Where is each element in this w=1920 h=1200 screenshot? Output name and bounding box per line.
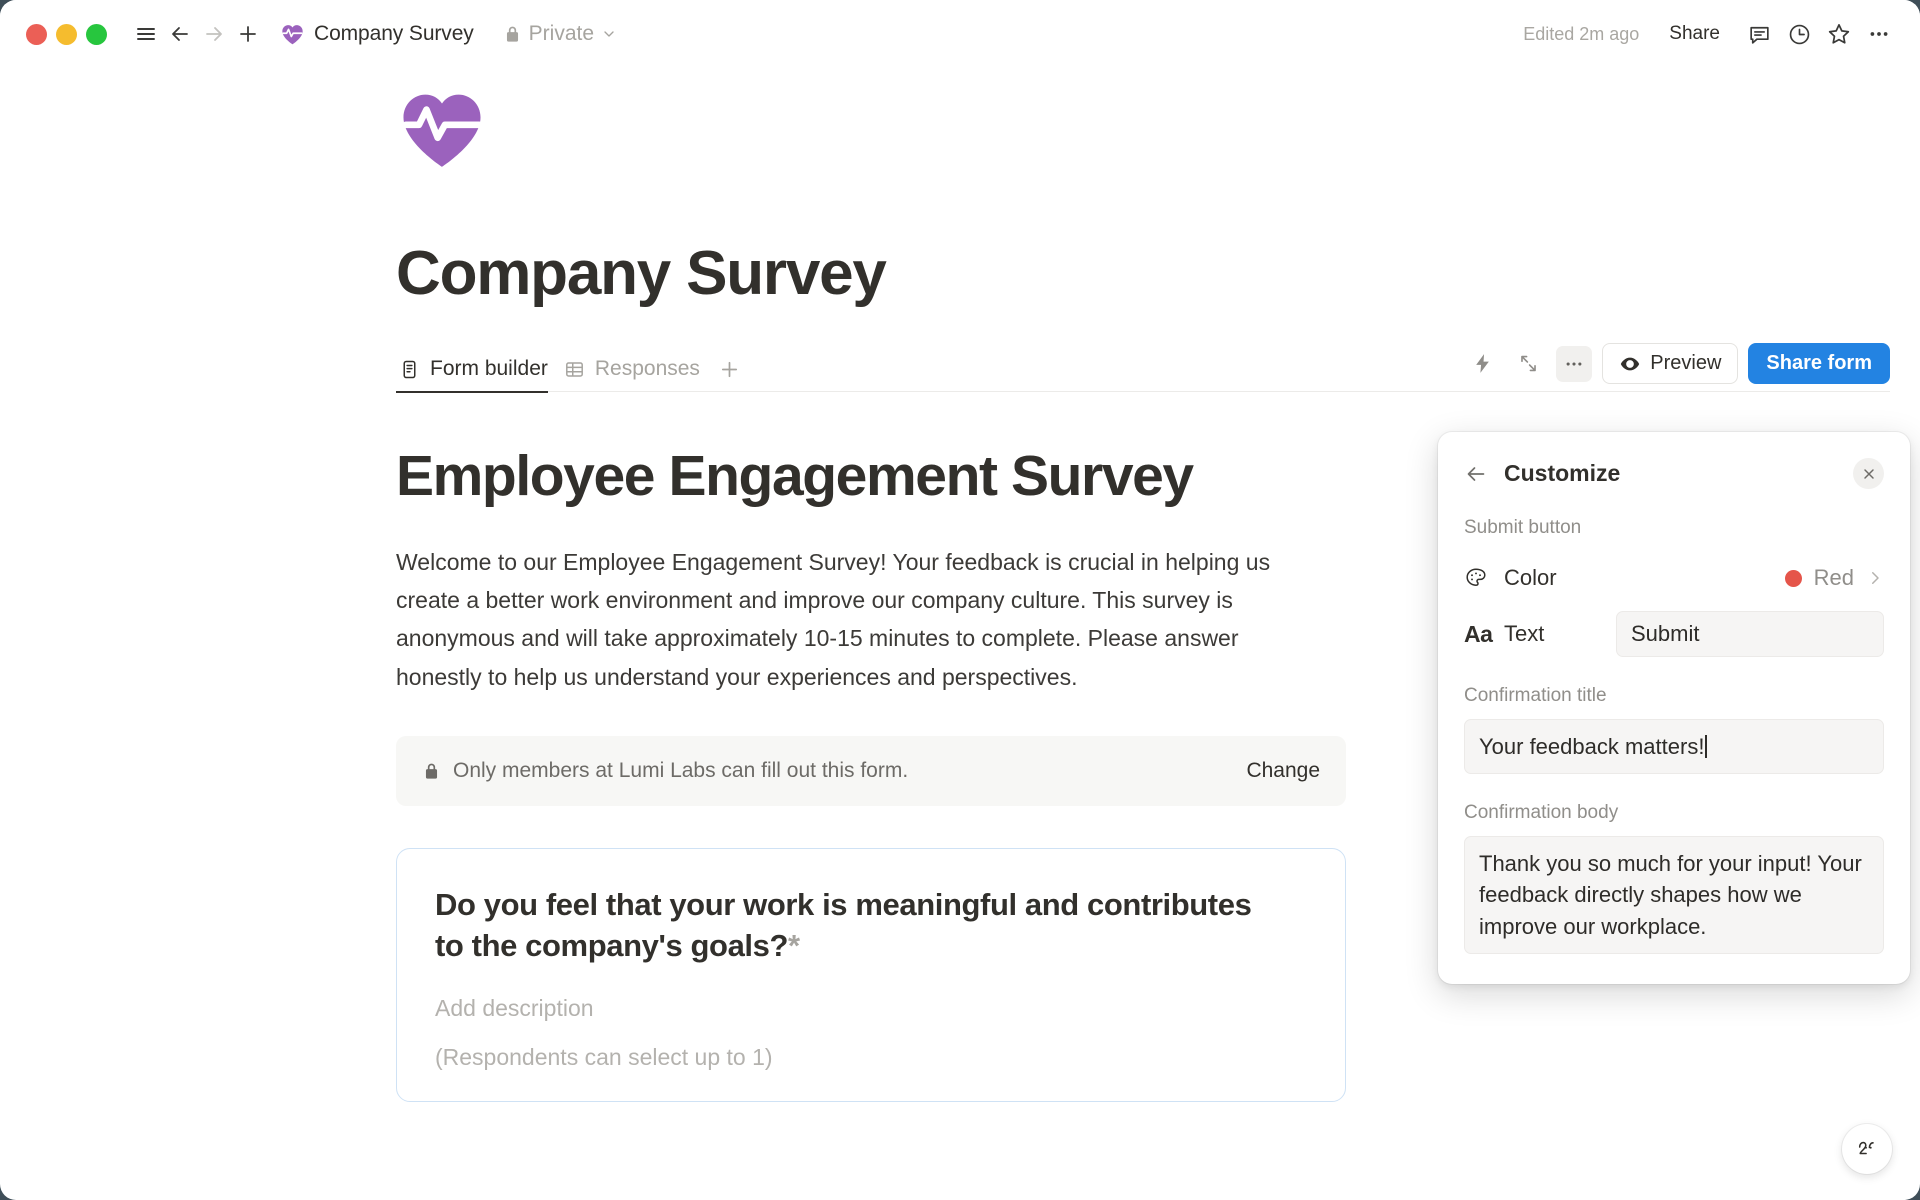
confirmation-title-input[interactable]: Your feedback matters!	[1464, 719, 1884, 774]
app-window: Company Survey Private Edited 2m ago Sha…	[0, 0, 1920, 1200]
question-card[interactable]: Do you feel that your work is meaningful…	[396, 848, 1346, 1102]
breadcrumb[interactable]: Company Survey	[273, 18, 481, 51]
customize-panel: Customize Submit button	[1438, 432, 1910, 984]
more-icon[interactable]	[1862, 17, 1896, 51]
privacy-label: Private	[529, 22, 594, 46]
form-icon	[399, 359, 420, 380]
question-description-input[interactable]: Add description	[435, 995, 1307, 1022]
titlebar-actions: Edited 2m ago Share	[1523, 17, 1896, 51]
aa-icon: Aa	[1464, 621, 1498, 648]
submit-text-input[interactable]: Submit	[1616, 611, 1884, 657]
palette-icon	[1464, 566, 1498, 590]
back-arrow-icon[interactable]	[1464, 462, 1488, 486]
submit-color-value: Red	[1814, 565, 1854, 591]
customize-panel-title: Customize	[1504, 460, 1620, 487]
lightning-icon[interactable]	[1464, 346, 1500, 382]
permission-banner: Only members at Lumi Labs can fill out t…	[396, 736, 1346, 806]
edited-timestamp: Edited 2m ago	[1523, 24, 1639, 45]
question-selection-hint: (Respondents can select up to 1)	[435, 1044, 1307, 1071]
preview-button[interactable]: Preview	[1602, 343, 1738, 384]
customize-panel-header: Customize	[1464, 458, 1884, 489]
question-title: Do you feel that your work is meaningful…	[435, 887, 1251, 963]
submit-color-row[interactable]: Color Red	[1464, 555, 1884, 601]
tab-form-builder-label: Form builder	[430, 357, 548, 381]
eye-icon	[1619, 353, 1641, 375]
form-description[interactable]: Welcome to our Employee Engagement Surve…	[396, 543, 1311, 697]
lock-icon	[422, 762, 441, 781]
title-bar: Company Survey Private Edited 2m ago Sha…	[0, 0, 1920, 68]
back-arrow-icon[interactable]	[163, 17, 197, 51]
star-icon[interactable]	[1822, 17, 1856, 51]
page-icon[interactable]	[396, 84, 488, 176]
expand-icon[interactable]	[1510, 346, 1546, 382]
submit-color-label: Color	[1504, 565, 1557, 591]
permission-change-button[interactable]: Change	[1246, 759, 1320, 783]
page-body: Company Survey Form builder	[0, 68, 1920, 1200]
close-window-button[interactable]	[26, 24, 47, 45]
traffic-lights	[26, 24, 107, 45]
breadcrumb-title: Company Survey	[314, 22, 474, 46]
heart-pulse-icon	[280, 22, 305, 47]
question-title-group[interactable]: Do you feel that your work is meaningful…	[435, 885, 1255, 967]
privacy-selector[interactable]: Private	[503, 22, 617, 46]
tab-responses[interactable]: Responses	[561, 357, 713, 392]
history-icon[interactable]	[1782, 17, 1816, 51]
more-icon[interactable]	[1556, 346, 1592, 382]
table-icon	[564, 359, 585, 380]
close-icon[interactable]	[1853, 458, 1884, 489]
new-page-plus-icon[interactable]	[231, 17, 265, 51]
forward-arrow-icon[interactable]	[197, 17, 231, 51]
required-marker: *	[788, 928, 800, 963]
minimize-window-button[interactable]	[56, 24, 77, 45]
share-form-label: Share form	[1766, 352, 1872, 375]
tab-responses-label: Responses	[595, 357, 700, 381]
comment-icon[interactable]	[1742, 17, 1776, 51]
page-title[interactable]: Company Survey	[396, 240, 1920, 308]
submit-text-row: Aa Text Submit	[1464, 611, 1884, 657]
tab-form-builder[interactable]: Form builder	[396, 357, 561, 392]
chevron-right-icon	[1866, 569, 1884, 587]
sidebar-toggle-icon[interactable]	[129, 17, 163, 51]
confirmation-body-label: Confirmation body	[1464, 802, 1884, 824]
submit-text-label: Text	[1504, 621, 1544, 647]
confirmation-body-input[interactable]: Thank you so much for your input! Your f…	[1464, 836, 1884, 954]
lock-icon	[503, 25, 522, 44]
chevron-down-icon	[601, 26, 617, 42]
text-caret	[1705, 735, 1707, 758]
share-form-button[interactable]: Share form	[1748, 343, 1890, 384]
submit-button-section-label: Submit button	[1464, 517, 1884, 539]
view-tabs: Form builder Responses	[396, 336, 1920, 392]
tab-actions: Preview Share form	[1464, 343, 1890, 384]
submit-color-value-group: Red	[1785, 565, 1884, 591]
permission-text-group: Only members at Lumi Labs can fill out t…	[422, 759, 908, 783]
notion-ai-face-icon[interactable]	[1842, 1124, 1892, 1174]
maximize-window-button[interactable]	[86, 24, 107, 45]
confirmation-title-label: Confirmation title	[1464, 685, 1884, 707]
add-view-button[interactable]	[713, 352, 747, 386]
share-button[interactable]: Share	[1659, 18, 1730, 50]
permission-text: Only members at Lumi Labs can fill out t…	[453, 759, 908, 783]
color-swatch	[1785, 570, 1802, 587]
confirmation-title-value: Your feedback matters!	[1479, 734, 1704, 759]
preview-button-label: Preview	[1650, 352, 1721, 375]
